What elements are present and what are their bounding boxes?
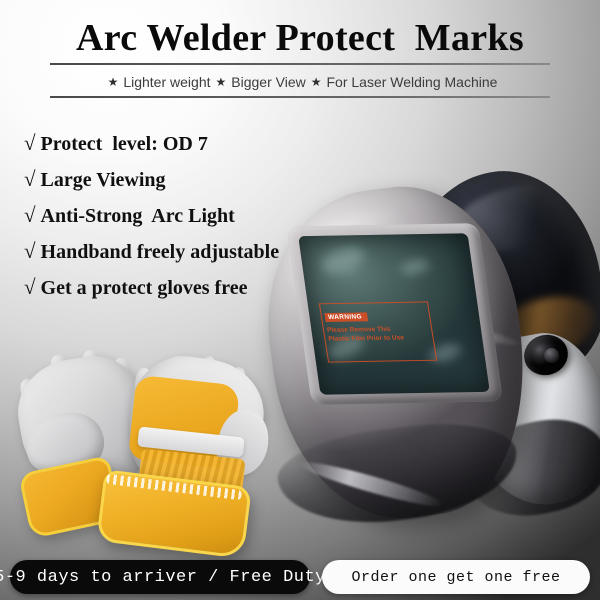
subtitle-bar: ★ Lighter weight ★ Bigger View ★ For Las…: [0, 68, 600, 95]
star-icon: ★: [306, 75, 327, 89]
lens-glint: [398, 256, 432, 278]
check-mark-icon: √: [24, 167, 36, 192]
helmet-knob-center: [544, 348, 559, 363]
advertisement-banner: Arc Welder Protect Marks ★ Lighter weigh…: [0, 0, 600, 600]
work-gloves-image: [4, 336, 274, 556]
check-mark-icon: √: [24, 131, 36, 156]
lens-warning-label: WARNING Please Remove This Plastic Film …: [319, 301, 437, 362]
promo-badge: Order one get one free: [322, 560, 590, 594]
feature-label: Anti-Strong Arc Light: [41, 205, 235, 228]
welding-helmet-image: WARNING Please Remove This Plastic Film …: [272, 160, 600, 520]
subtitle-item-1: Bigger View: [231, 74, 305, 90]
header-divider-bottom: [50, 96, 550, 98]
check-mark-icon: √: [24, 239, 36, 264]
subtitle-item-2: For Laser Welding Machine: [326, 74, 497, 90]
warning-heading: WARNING: [324, 312, 367, 322]
feature-label: Large Viewing: [41, 169, 166, 192]
feature-label: Handband freely adjustable: [41, 241, 280, 264]
warning-body-text: Please Remove This Plastic Film Prior to…: [326, 324, 430, 344]
feature-label: Protect level: OD 7: [41, 133, 208, 156]
star-icon: ★: [103, 75, 124, 89]
header-divider-top: [50, 63, 550, 65]
check-mark-icon: √: [24, 203, 36, 228]
subtitle-item-0: Lighter weight: [123, 74, 210, 90]
lens-glint: [317, 242, 369, 279]
page-title: Arc Welder Protect Marks: [0, 16, 600, 60]
shipping-badge: 5-9 days to arriver / Free Duty: [10, 560, 310, 594]
check-mark-icon: √: [24, 275, 36, 300]
feature-label: Get a protect gloves free: [41, 277, 248, 300]
feature-item: √ Protect level: OD 7: [24, 131, 354, 156]
star-icon: ★: [211, 75, 232, 89]
